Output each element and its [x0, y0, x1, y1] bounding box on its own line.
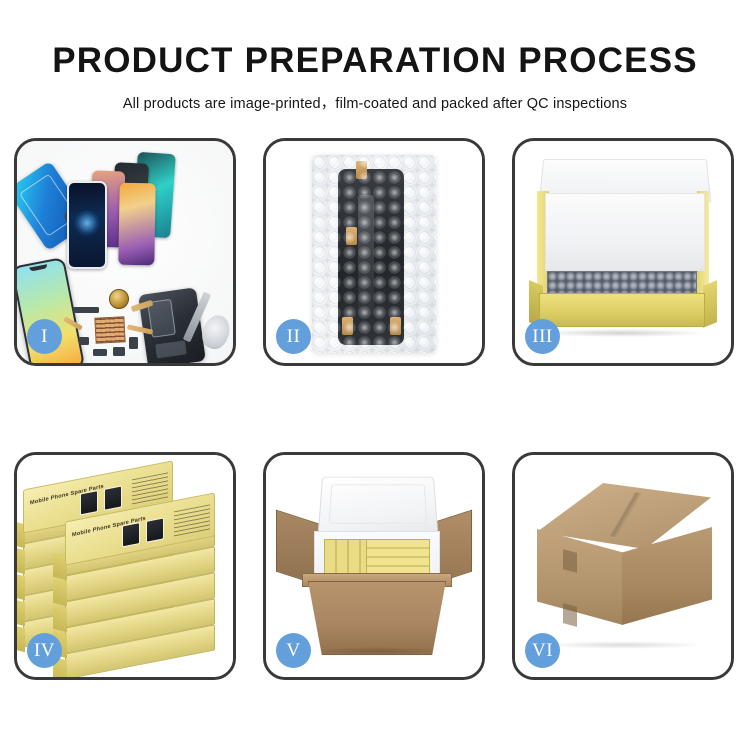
chip-component-4 [113, 347, 125, 356]
step-badge-4: IV [27, 633, 62, 668]
step-badge-6: VI [525, 633, 560, 668]
bubble-wrap-bag [312, 155, 436, 353]
step-badge-2: II [276, 319, 311, 354]
step-badge-1: I [27, 319, 62, 354]
step-panel-5: V [263, 452, 485, 680]
foam-carton-packing-photo: V [266, 455, 482, 677]
screw-grid-tray [94, 316, 125, 344]
process-steps-grid: I II [14, 138, 736, 680]
speaker-module [109, 289, 129, 309]
carton-body [308, 581, 446, 655]
box-front-panel [539, 293, 705, 327]
step-badge-3: III [525, 319, 560, 354]
step-panel-4: Mobile Phone Spare Parts Mobile Phone Sp… [14, 452, 236, 680]
carton-tape-mark [563, 603, 577, 627]
carton-tape-mark [563, 549, 577, 573]
screen-protector-glass [67, 181, 107, 269]
header: PRODUCT PREPARATION PROCESS All products… [0, 0, 750, 113]
sealed-shipping-carton-photo: VI [515, 455, 731, 677]
yellow-boxes-row [366, 539, 430, 575]
step-panel-3: III [512, 138, 734, 366]
bubble-texture-highlight [312, 155, 436, 353]
boxed-units-stack-photo: Mobile Phone Spare Parts Mobile Phone Sp… [17, 455, 233, 677]
phone-gradient [118, 183, 155, 266]
box-label-phone-image [104, 485, 122, 510]
step-panel-6: VI [512, 452, 734, 680]
chip-component-2 [79, 337, 89, 345]
box-label-phone-image [146, 517, 164, 542]
drop-shadow [314, 647, 440, 655]
box-side-right [703, 280, 717, 328]
inner-box-packing-photo: III [515, 141, 731, 363]
bubble-wrap-packing-photo: II [266, 141, 482, 363]
box-label-spec-lines [174, 504, 210, 539]
step-badge-5: V [276, 633, 311, 668]
chip-component-3 [93, 349, 107, 356]
step-panel-2: II [263, 138, 485, 366]
page-subtitle: All products are image-printed，film-coat… [0, 92, 750, 113]
foam-sheet [545, 193, 705, 271]
box-label-phone-image [122, 522, 140, 547]
drop-shadow [541, 641, 705, 649]
box-label-phone-image [80, 490, 98, 515]
chip-component-1 [73, 307, 99, 313]
foam-cooler-lid [318, 477, 438, 534]
product-assortment-photo: I [17, 141, 233, 363]
drop-shadow [539, 329, 705, 337]
page-title: PRODUCT PREPARATION PROCESS [0, 42, 750, 81]
step-panel-1: I [14, 138, 236, 366]
product-preparation-infographic: PRODUCT PREPARATION PROCESS All products… [0, 0, 750, 750]
chip-component-5 [129, 337, 138, 349]
